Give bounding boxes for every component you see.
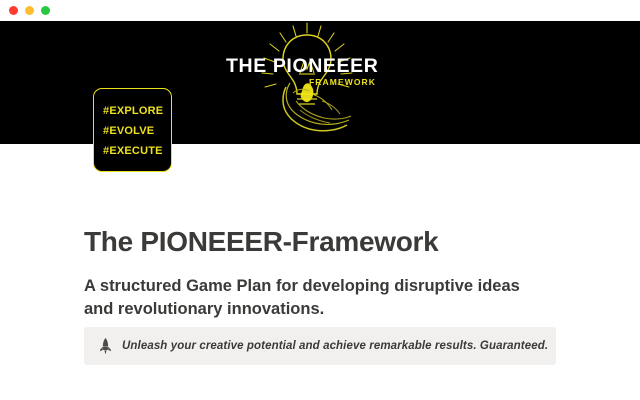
page-title: The PIONEEER-Framework xyxy=(84,227,438,258)
logo-subtitle: FRAMEWORK xyxy=(309,78,376,87)
callout-box: Unleash your creative potential and achi… xyxy=(84,327,556,365)
badge-line-execute: #EXECUTE xyxy=(103,141,171,161)
logo-title: THE PIONEEER xyxy=(226,57,378,77)
brand-logo[interactable]: THE PIONEEER FRAMEWORK xyxy=(222,21,372,144)
rocket-icon xyxy=(94,338,116,355)
close-button[interactable] xyxy=(9,6,18,15)
page-subtitle: A structured Game Plan for developing di… xyxy=(84,275,534,322)
maximize-button[interactable] xyxy=(41,6,50,15)
minimize-button[interactable] xyxy=(25,6,34,15)
page-content: The PIONEEER-Framework A structured Game… xyxy=(0,144,640,400)
badge-line-evolve: #EVOLVE xyxy=(103,121,171,141)
app-window: THE PIONEEER FRAMEWORK #EXPLORE #EVOLVE … xyxy=(0,0,640,400)
window-controls xyxy=(9,6,50,15)
window-titlebar xyxy=(0,0,640,21)
hashtag-badge: #EXPLORE #EVOLVE #EXECUTE xyxy=(93,88,172,172)
badge-line-explore: #EXPLORE xyxy=(103,101,171,121)
callout-text: Unleash your creative potential and achi… xyxy=(122,340,548,352)
